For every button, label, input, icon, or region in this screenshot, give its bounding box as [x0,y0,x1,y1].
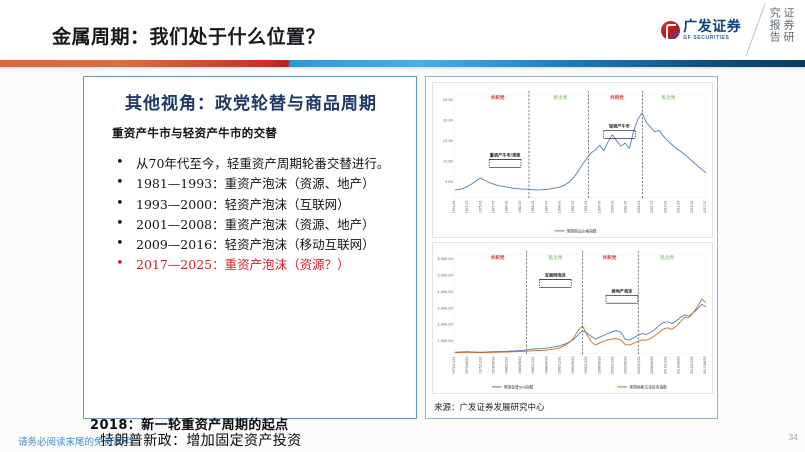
svg-text:美国商品价格指数: 美国商品价格指数 [567,229,597,234]
panel-title: 其他视角：政党轮替与商品周期 [94,89,408,114]
svg-text:1987-07: 1987-07 [544,200,548,213]
svg-text:共和党: 共和党 [602,254,616,261]
svg-text:2003/06/30: 2003/06/30 [624,356,628,374]
svg-text:1997-07: 1997-07 [597,200,601,213]
svg-text:1993/06/30: 1993/06/30 [571,356,575,374]
svg-text:1985/12/31: 1985/12/31 [531,356,535,374]
svg-text:轻资产牛市: 轻资产牛市 [609,123,631,129]
slide-root: 金属周期：我们处于什么位置？ 广发证券 GF SECURITIES 证券研究报告… [0,0,805,452]
svg-text:1980/12/31: 1980/12/31 [505,356,509,374]
svg-text:1972-07: 1972-07 [465,200,469,213]
svg-text:1983/06/30: 1983/06/30 [518,356,522,374]
svg-text:6,000.00: 6,000.00 [437,257,452,261]
svg-text:5.00: 5.00 [445,180,453,184]
report-type-label: 证券研究报告 [767,7,799,53]
svg-text:3,000.00: 3,000.00 [437,306,452,310]
svg-text:1990-01: 1990-01 [558,200,562,213]
brand-logo: 广发证券 GF SECURITIES 证券研究报告 [661,6,799,54]
svg-text:1970-01: 1970-01 [452,200,456,213]
logo-divider-slash [746,4,766,57]
logo-text: 广发证券 GF SECURITIES [683,20,741,41]
svg-text:2000/12/31: 2000/12/31 [610,356,614,374]
svg-text:民主党: 民主党 [548,254,562,261]
page-number: 34 [789,432,798,442]
bullet-item: 1993—2000：轻资产泡沫（互联网） [110,196,410,214]
logo-name-cn: 广发证券 [683,20,741,34]
svg-text:1982-07: 1982-07 [518,200,522,213]
svg-text:1995/12/31: 1995/12/31 [584,356,588,374]
svg-text:2007-07: 2007-07 [650,200,654,213]
svg-text:2010-01: 2010-01 [663,200,667,213]
slide-header: 金属周期：我们处于什么位置？ 广发证券 GF SECURITIES 证券研究报告 [0,0,805,60]
svg-text:2015-01: 2015-01 [690,200,694,213]
svg-text:1990/12/31: 1990/12/31 [558,356,562,374]
svg-text:1995-01: 1995-01 [584,200,588,213]
accent-divider [0,60,805,67]
chart-panel: 25.0020.0015.0010.005.00共和党民主党共和党民主党重资产牛… [425,76,718,419]
svg-text:美国纳斯达克综合指数: 美国纳斯达克综合指数 [629,385,667,390]
svg-text:民主党: 民主党 [554,94,568,101]
bullet-item: 2001—2008：重资产泡沫（资源、地产） [110,216,410,234]
content-panel: 其他视角：政党轮替与商品周期 重资产牛市与轻资产牛市的交替 从70年代至今，轻重… [83,76,417,419]
svg-text:20.00: 20.00 [443,119,453,123]
svg-text:2005/12/31: 2005/12/31 [637,356,641,374]
svg-text:10.00: 10.00 [443,160,453,164]
svg-text:1975/12/31: 1975/12/31 [478,356,482,374]
logo-name-en: GF SECURITIES [683,36,741,41]
svg-text:1973/06/30: 1973/06/30 [465,356,469,374]
bullet-item: 从70年代至今，轻重资产周期轮番交替进行。 [110,155,410,173]
divider-shadow [0,67,805,70]
svg-text:15.00: 15.00 [443,139,453,143]
bullet-list: 从70年代至今，轻重资产周期轮番交替进行。1981—1993：重资产泡沫（资源、… [110,155,410,277]
svg-text:2002-07: 2002-07 [624,200,628,213]
svg-text:1998/06/30: 1998/06/30 [597,356,601,374]
svg-text:共和党: 共和党 [610,94,624,101]
svg-text:1985-01: 1985-01 [531,200,535,213]
page-title: 金属周期：我们处于什么位置？ [52,22,325,49]
panel-subtitle: 重资产牛市与轻资产牛市的交替 [112,125,277,141]
svg-text:1980-01: 1980-01 [505,200,509,213]
svg-text:1978/06/30: 1978/06/30 [491,356,495,374]
svg-text:2017-07: 2017-07 [703,200,707,213]
svg-text:2,000.00: 2,000.00 [437,323,452,327]
gf-logo-icon [661,21,680,40]
svg-text:1975-01: 1975-01 [478,200,482,213]
bullet-item: 2009—2016：轻资产泡沫（移动互联网） [110,236,410,254]
svg-text:2010/12/31: 2010/12/31 [663,356,667,374]
svg-text:2005-01: 2005-01 [637,200,641,213]
svg-text:2013/06/30: 2013/06/30 [677,356,681,374]
chart-canvas-top: 25.0020.0015.0010.005.00共和党民主党共和党民主党重资产牛… [433,83,712,237]
bullet-item: 2017—2025：重资产泡沫（资源？） [110,256,410,274]
svg-text:2000-01: 2000-01 [610,200,614,213]
svg-text:2008/06/30: 2008/06/30 [650,356,654,374]
svg-text:1988/06/30: 1988/06/30 [544,356,548,374]
bullet-item: 1981—1993：重资产泡沫（资源、地产） [110,175,410,193]
svg-text:2017/06/30: 2017/06/30 [703,356,707,374]
svg-text:共和党: 共和党 [491,254,505,261]
svg-text:共和党: 共和党 [491,94,505,101]
svg-text:互联网泡沫: 互联网泡沫 [545,272,567,278]
svg-text:1977-07: 1977-07 [492,200,496,213]
chart-equity-index: 6,000.005,000.004,000.003,000.002,000.00… [432,242,713,394]
svg-text:重资产牛市/滞涨: 重资产牛市/滞涨 [490,151,521,157]
svg-text:民主党: 民主党 [660,254,674,261]
svg-text:房地产泡沫: 房地产泡沫 [611,287,634,293]
svg-text:民主党: 民主党 [662,94,676,101]
svg-text:美国标普500指数: 美国标普500指数 [504,385,534,390]
disclaimer-text: 请务必阅读末尾的免责声明 [18,434,132,448]
chart-canvas-bottom: 6,000.005,000.004,000.003,000.002,000.00… [433,243,712,393]
svg-text:1970/12/31: 1970/12/31 [452,356,456,374]
chart-commodity-price: 25.0020.0015.0010.005.00共和党民主党共和党民主党重资产牛… [432,82,713,238]
svg-text:5,000.00: 5,000.00 [437,273,452,277]
svg-text:1,000.00: 1,000.00 [437,339,452,343]
svg-text:25.00: 25.00 [443,98,453,102]
chart-source-note: 来源：广发证券发展研究中心 [434,401,545,413]
svg-text:2012-07: 2012-07 [677,200,681,213]
svg-text:2015/12/31: 2015/12/31 [690,356,694,374]
svg-text:4,000.00: 4,000.00 [437,290,452,294]
svg-text:1992-07: 1992-07 [571,200,575,213]
